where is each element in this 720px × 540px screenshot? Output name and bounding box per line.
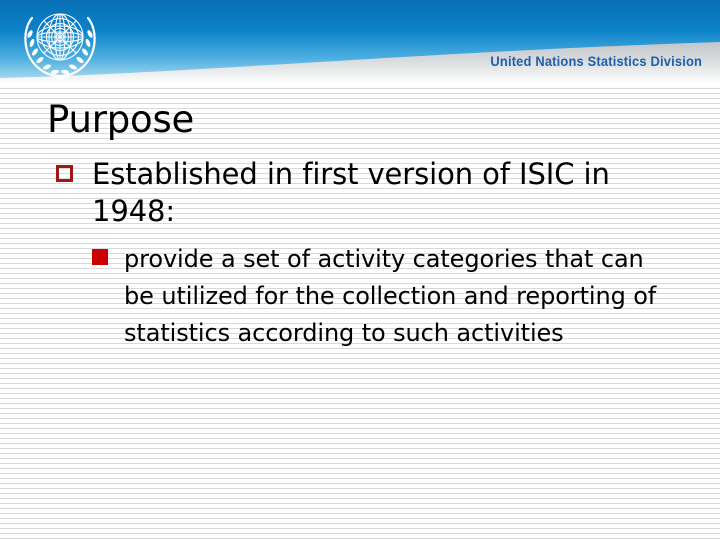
- filled-square-bullet-icon: [92, 249, 108, 265]
- slide: United Nations Statistics Division Purpo…: [0, 0, 720, 540]
- list-item-label: provide a set of activity categories tha…: [124, 241, 680, 352]
- bullet-list: Established in first version of ISIC in …: [0, 156, 720, 352]
- list-item-label: Established in first version of ISIC in …: [92, 156, 680, 230]
- list-item: Established in first version of ISIC in …: [0, 156, 720, 230]
- un-emblem-icon: [14, 4, 106, 84]
- slide-body: Purpose Established in first version of …: [0, 84, 720, 540]
- organization-title: United Nations Statistics Division: [490, 53, 702, 69]
- hollow-square-bullet-icon: [56, 165, 73, 182]
- page-title: Purpose: [47, 98, 194, 142]
- slide-header: United Nations Statistics Division: [0, 0, 720, 84]
- header-banner-graphic: [0, 0, 720, 84]
- list-item: provide a set of activity categories tha…: [0, 241, 720, 352]
